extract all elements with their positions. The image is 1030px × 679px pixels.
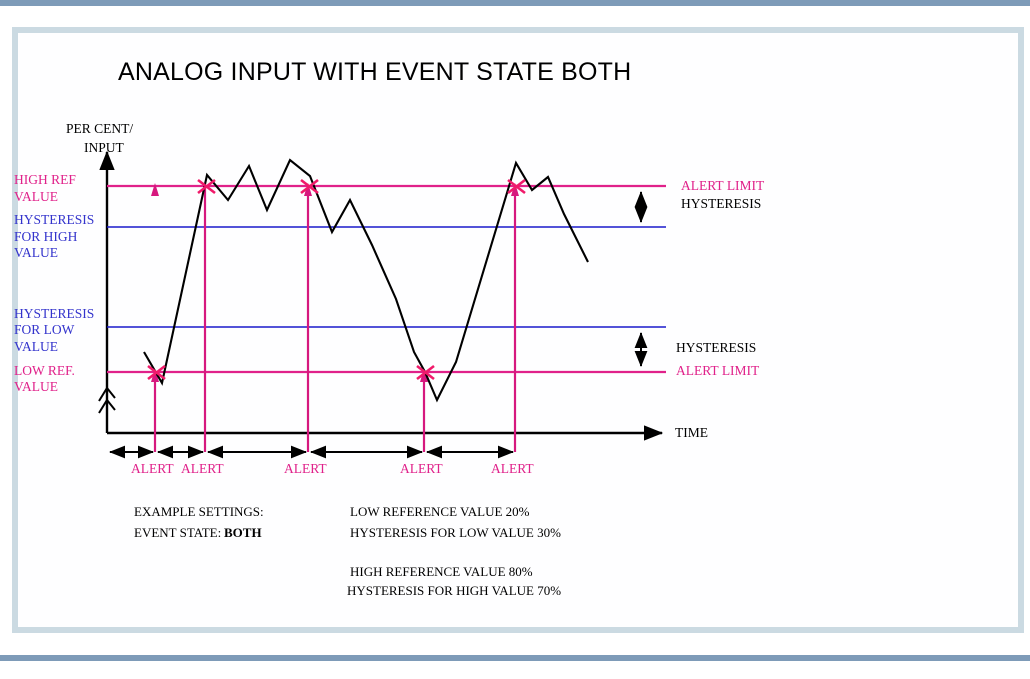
alert-label-2: ALERT [181, 461, 224, 476]
signal-waveform [144, 160, 588, 400]
left-label-line: HYSTERESIS [14, 306, 94, 321]
diagram-canvas: ANALOG INPUT WITH EVENT STATE BOTH PER C… [12, 27, 1024, 633]
alert-label-1: ALERT [131, 461, 174, 476]
analog-input-event-state-diagram: ANALOG INPUT WITH EVENT STATE BOTH PER C… [0, 0, 1030, 679]
diagram-page: ANALOG INPUT WITH EVENT STATE BOTH PER C… [0, 0, 1030, 679]
left-label-line: VALUE [14, 189, 58, 204]
legend-hysteresis-for-low-value: HYSTERESIS FOR LOW VALUE 30% [350, 525, 561, 540]
right-label-alert-limit-bottom: ALERT LIMIT [676, 363, 760, 378]
left-label-line: HYSTERESIS [14, 212, 94, 227]
legend-event-state-label: EVENT STATE: [134, 525, 221, 540]
y-axis-label-line1: PER CENT/ [66, 121, 133, 136]
legend-low-reference-value: LOW REFERENCE VALUE 20% [350, 504, 530, 519]
left-label-line: FOR LOW [14, 322, 75, 337]
legend-example-settings: EXAMPLE SETTINGS: [134, 504, 264, 519]
left-label-line: FOR HIGH [14, 229, 78, 244]
right-label-hysteresis-top: HYSTERESIS [681, 196, 761, 211]
legend-event-state-value: BOTH [224, 525, 262, 540]
right-label-hysteresis-bottom: HYSTERESIS [676, 340, 756, 355]
page-title: ANALOG INPUT WITH EVENT STATE BOTH [118, 58, 631, 86]
x-axis-label: TIME [675, 425, 708, 440]
left-label-high-ref-value: HIGH REF VALUE [14, 172, 76, 204]
legend-hysteresis-for-high-value: HYSTERESIS FOR HIGH VALUE 70% [347, 583, 561, 598]
left-label-hysteresis-for-low-value: HYSTERESIS FOR LOW VALUE [14, 306, 94, 354]
left-label-low-ref-value: LOW REF. VALUE [14, 363, 75, 394]
legend-high-reference-value: HIGH REFERENCE VALUE 80% [350, 564, 533, 579]
y-axis-label-line2: INPUT [84, 140, 125, 155]
alert-label-3: ALERT [284, 461, 327, 476]
left-label-hysteresis-for-high-value: HYSTERESIS FOR HIGH VALUE [14, 212, 94, 260]
alert-label-5: ALERT [491, 461, 534, 476]
alert-label-4: ALERT [400, 461, 443, 476]
left-label-line: VALUE [14, 379, 58, 394]
left-label-line: VALUE [14, 339, 58, 354]
right-label-alert-limit-top: ALERT LIMIT [681, 178, 765, 193]
left-label-line: LOW REF. [14, 363, 75, 378]
left-label-line: VALUE [14, 245, 58, 260]
left-label-line: HIGH REF [14, 172, 76, 187]
